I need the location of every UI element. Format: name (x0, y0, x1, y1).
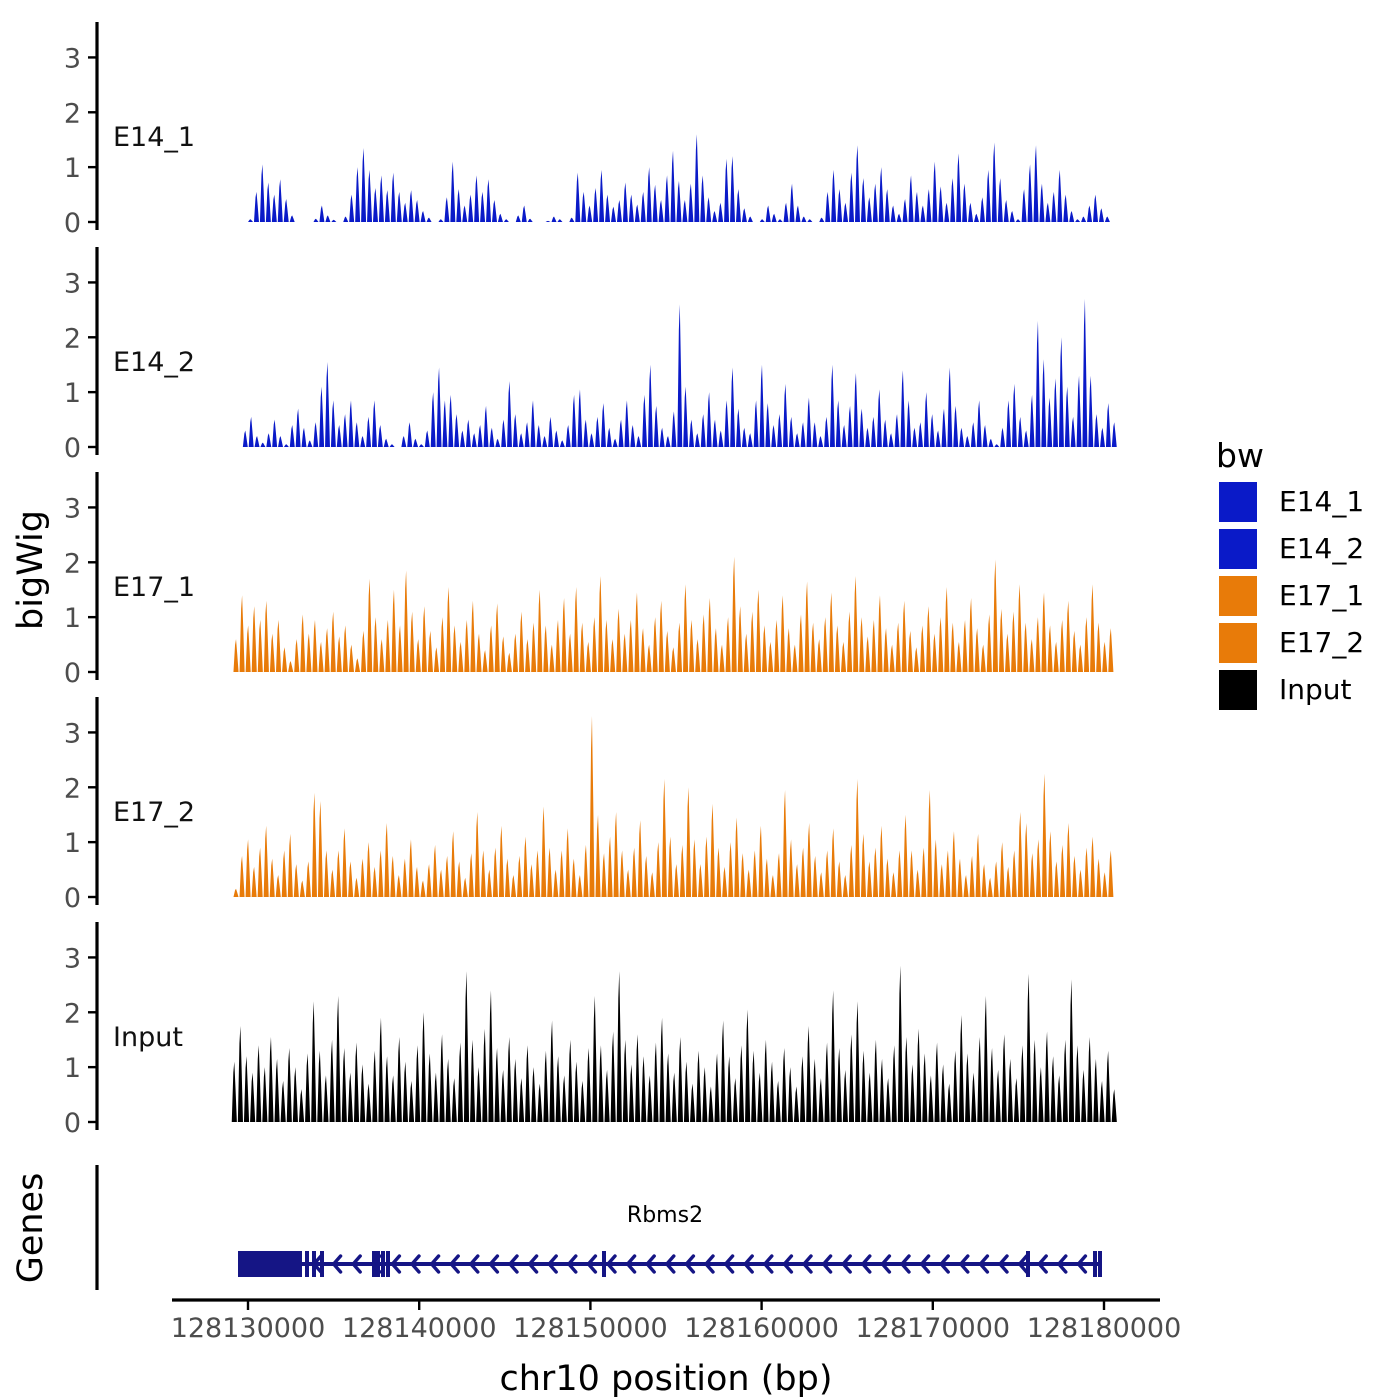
legend-label-e17_1: E17_1 (1279, 579, 1364, 612)
legend-item-e17_2[interactable]: E17_2 (1219, 623, 1364, 663)
track-label-e17_1: E17_1 (113, 572, 195, 603)
x-tick-label-128150000: 128150000 (513, 1313, 668, 1344)
y-tick-label-e14_2-3: 3 (64, 268, 81, 299)
track-panels-group: 0123E14_10123E14_20123E17_10123E17_20123… (64, 22, 1117, 1139)
legend-label-input: Input (1279, 673, 1352, 706)
track-area-e14_2 (237, 299, 1117, 447)
gene-exon-block-large (238, 1251, 302, 1277)
y-tick-label-e17_2-1: 1 (64, 828, 81, 859)
y-axis-title: bigWig (11, 510, 51, 630)
gene-exon-tick-7 (602, 1251, 606, 1277)
legend-title-label: bw (1216, 436, 1264, 475)
legend-label-e17_2: E17_2 (1279, 626, 1364, 659)
y-tick-label-e14_1-0: 0 (64, 208, 81, 239)
legend-item-input[interactable]: Input (1219, 670, 1352, 710)
track-area-e17_2 (233, 716, 1113, 897)
track-panel-input: 0123Input (64, 922, 1117, 1139)
legend-swatch-input (1219, 670, 1257, 710)
legend-group: bwE14_1E14_2E17_1E17_2Input (1216, 436, 1364, 710)
y-tick-label-e14_1-3: 3 (64, 43, 81, 74)
track-panel-e17_1: 0123E17_1 (64, 472, 1114, 689)
gene-exon-tick-6 (386, 1251, 390, 1277)
legend-swatch-e17_1 (1219, 576, 1257, 616)
y-tick-label-input-2: 2 (64, 998, 81, 1029)
y-tick-label-input-1: 1 (64, 1053, 81, 1084)
y-tick-label-e14_2-1: 1 (64, 378, 81, 409)
track-panel-e14_2: 0123E14_2 (64, 247, 1117, 464)
y-tick-label-e17_2-2: 2 (64, 773, 81, 804)
legend-item-e14_2[interactable]: E14_2 (1219, 529, 1364, 569)
y-tick-label-e14_2-0: 0 (64, 433, 81, 464)
track-label-e14_1: E14_1 (113, 122, 195, 153)
legend-swatch-e17_2 (1219, 623, 1257, 663)
y-tick-label-e17_1-3: 3 (64, 493, 81, 524)
track-label-input: Input (113, 1022, 183, 1053)
y-tick-label-e17_1-0: 0 (64, 658, 81, 689)
y-tick-label-e17_1-2: 2 (64, 548, 81, 579)
y-tick-label-input-0: 0 (64, 1108, 81, 1139)
x-tick-label-128180000: 128180000 (1027, 1313, 1182, 1344)
genes-track-group: Rbms2 (97, 1165, 1102, 1290)
gene-exon-tick-5 (381, 1251, 385, 1277)
legend-item-e14_1[interactable]: E14_1 (1219, 482, 1364, 522)
track-area-e14_1 (242, 134, 1110, 222)
legend-label-e14_2: E14_2 (1279, 532, 1364, 565)
x-axis-group: 1281300001281400001281500001281600001281… (171, 1300, 1182, 1344)
track-label-e17_2: E17_2 (113, 797, 195, 828)
y-tick-label-e14_2-2: 2 (64, 323, 81, 354)
gene-name-label: Rbms2 (627, 1203, 703, 1228)
x-axis-title: chr10 position (bp) (500, 1359, 833, 1399)
legend-label-e14_1: E14_1 (1279, 485, 1364, 518)
genes-axis-title: Genes (11, 1173, 51, 1284)
bigwig-genome-browser-figure: 0123E14_10123E14_20123E17_10123E17_20123… (0, 0, 1400, 1400)
x-tick-label-128160000: 128160000 (684, 1313, 839, 1344)
y-tick-label-e17_2-0: 0 (64, 883, 81, 914)
gene-exon-tick-0 (305, 1251, 309, 1277)
figure-root: 0123E14_10123E14_20123E17_10123E17_20123… (0, 0, 1400, 1400)
y-tick-label-e14_1-1: 1 (64, 153, 81, 184)
track-panel-e17_2: 0123E17_2 (64, 697, 1114, 914)
x-tick-label-128130000: 128130000 (171, 1313, 326, 1344)
track-panel-e14_1: 0123E14_1 (64, 22, 1110, 239)
legend-swatch-e14_2 (1219, 529, 1257, 569)
x-tick-label-128140000: 128140000 (342, 1313, 497, 1344)
x-tick-label-128170000: 128170000 (855, 1313, 1010, 1344)
track-area-input (232, 966, 1117, 1122)
y-tick-label-e17_2-3: 3 (64, 718, 81, 749)
y-tick-label-e17_1-1: 1 (64, 603, 81, 634)
gene-exon-tick-10 (1098, 1251, 1102, 1277)
y-tick-label-input-3: 3 (64, 943, 81, 974)
gene-exon-tick-9 (1093, 1251, 1097, 1277)
legend-item-e17_1[interactable]: E17_1 (1219, 576, 1364, 616)
legend-swatch-e14_1 (1219, 482, 1257, 522)
y-tick-label-e14_1-2: 2 (64, 98, 81, 129)
track-label-e14_2: E14_2 (113, 347, 195, 378)
track-area-e17_1 (233, 557, 1113, 672)
